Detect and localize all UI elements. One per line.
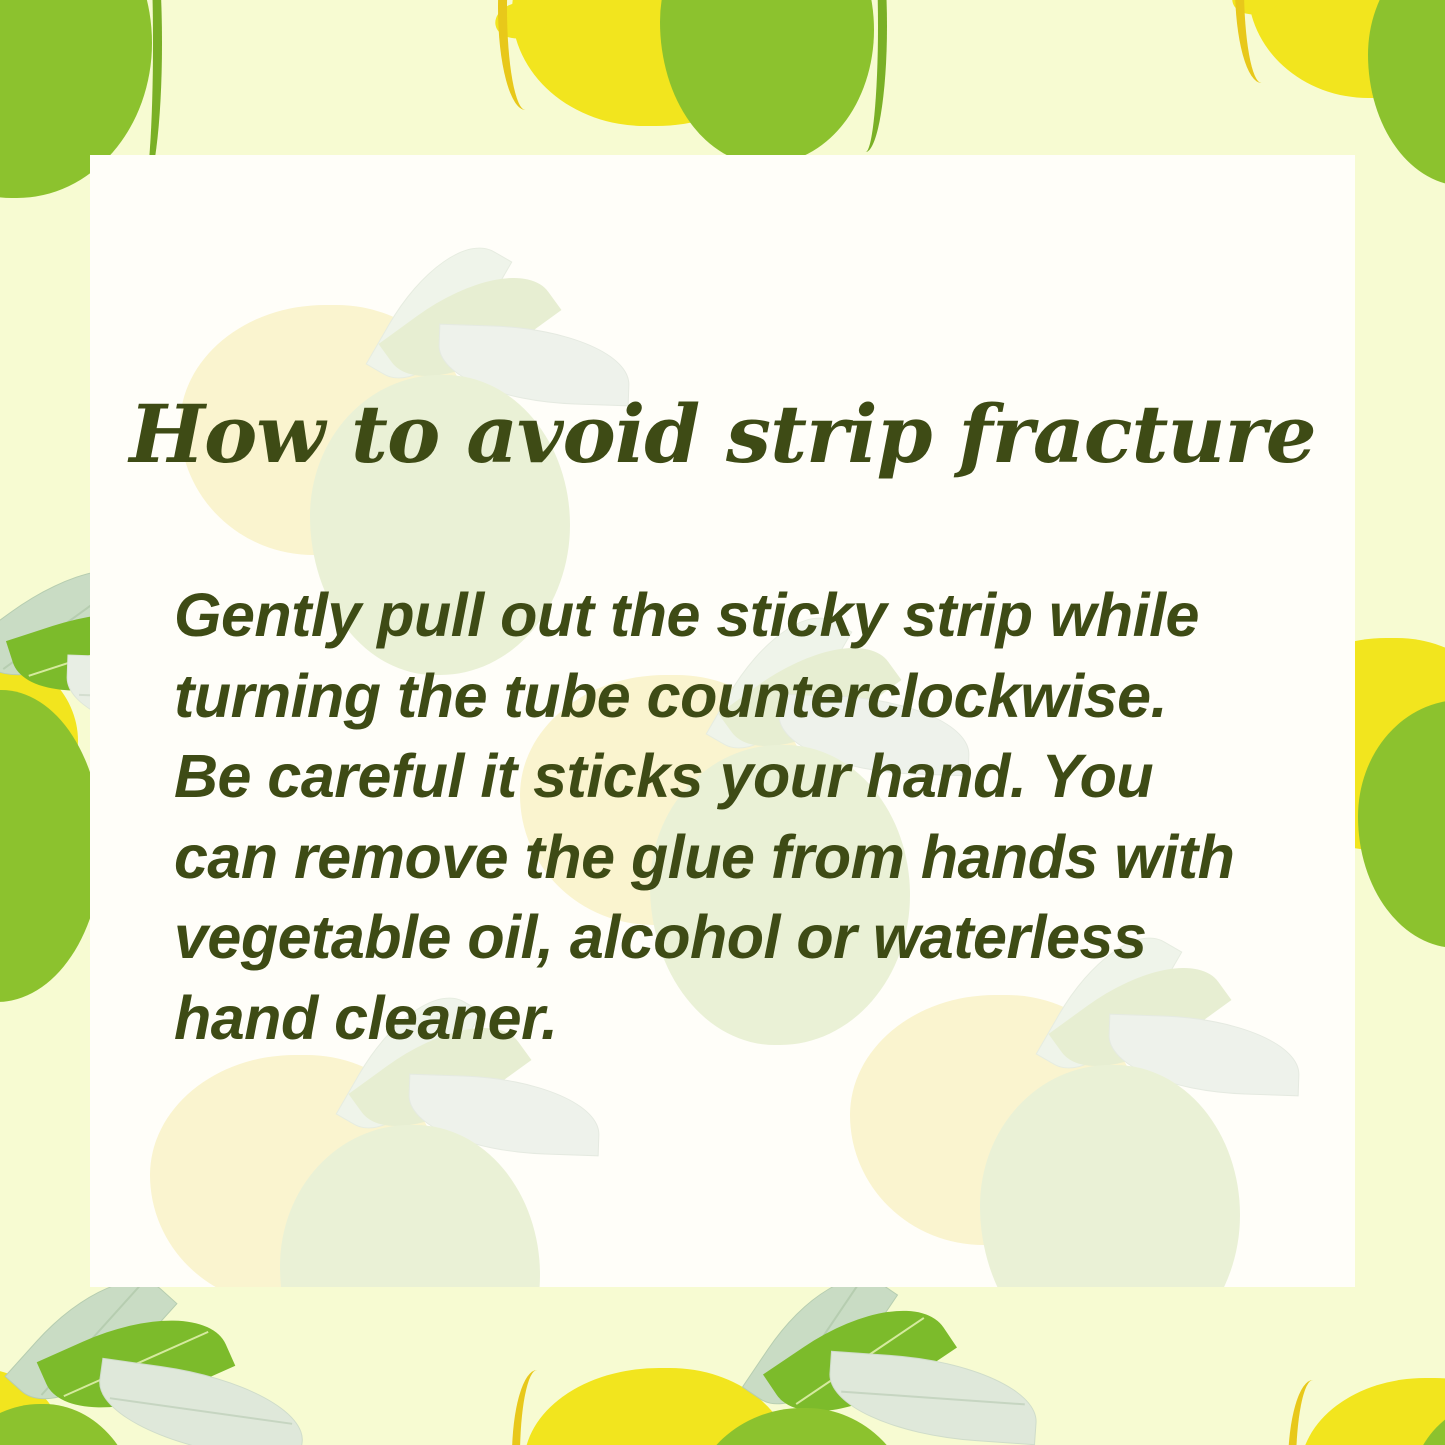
instruction-line: can remove the glue from hands with [174,817,1314,898]
instruction-line: hand cleaner. [174,978,1314,1059]
instruction-line: vegetable oil, alcohol or waterless [174,897,1314,978]
lemon-bottom-right-icon [1300,1378,1445,1445]
instruction-line: turning the tube counterclockwise. [174,656,1314,737]
instruction-line: Be careful it sticks your hand. You [174,736,1314,817]
card-content: How to avoid strip fracture Gently pull … [90,155,1355,1287]
instruction-body: Gently pull out the sticky strip while t… [174,575,1314,1058]
lime-top-right-icon [1368,0,1445,186]
poster-root: How to avoid strip fracture Gently pull … [0,0,1445,1445]
lime-left-middle-icon [0,690,102,1002]
lime-top-center-icon [660,0,874,164]
page-title: How to avoid strip fracture [90,387,1355,481]
content-card: How to avoid strip fracture Gently pull … [90,155,1355,1287]
instruction-line: Gently pull out the sticky strip while [174,575,1314,656]
